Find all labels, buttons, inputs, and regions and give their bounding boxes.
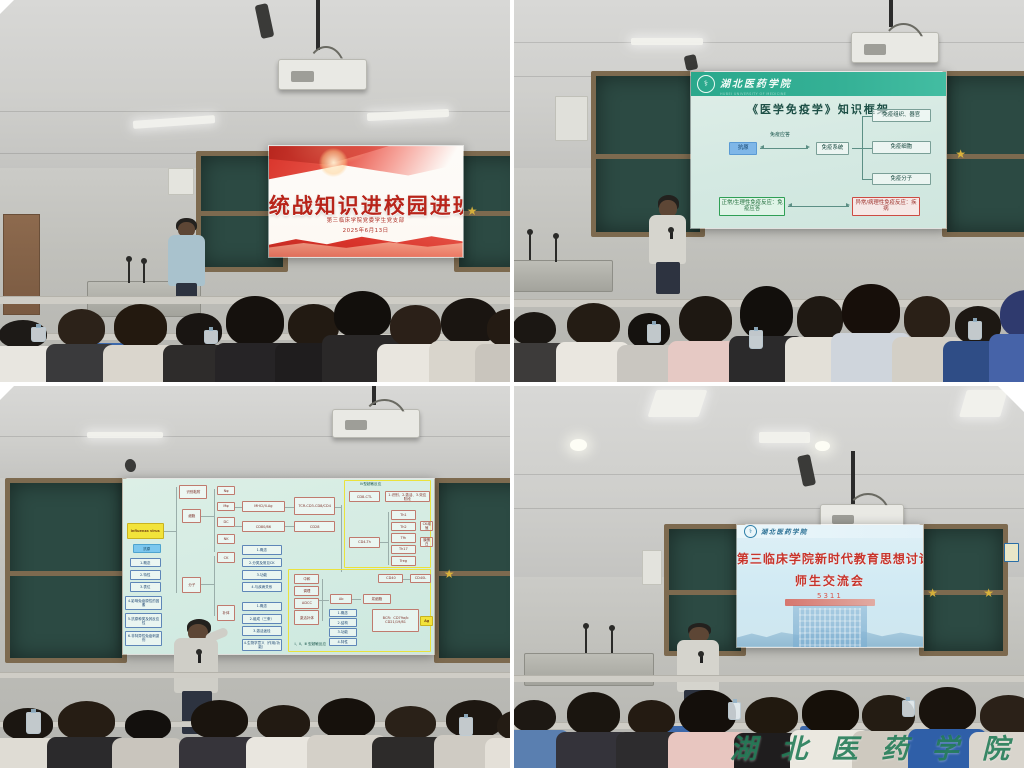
node-ig-item-0: 1.概念 [329, 609, 357, 618]
node-cell-group: 细胞 [182, 509, 201, 523]
university-name: 湖北医药学院 [761, 526, 808, 536]
star-sticker: ★ [927, 588, 938, 599]
node-adhesion: 识别黏附 [179, 485, 207, 499]
label-hypersensitivity-types: Ⅰ、Ⅱ、Ⅲ 型超敏反应 [294, 642, 326, 647]
node-ck-item-2: 3.功能 [242, 570, 282, 580]
node-cd8-ctl: CD8-CTL [349, 491, 380, 502]
node-ab-fn-3: 激活补体 [294, 610, 319, 625]
node-ck-item-1: 2.分类及常见CK [242, 558, 282, 568]
node-cd80-86: CD80/86 [242, 521, 286, 532]
ceiling-light [87, 432, 164, 438]
wall-switch [1004, 543, 1019, 562]
node-th-2: Tfh [391, 533, 416, 543]
node-normal-response: 正常/生理性免疫反应：免疫应答 [719, 197, 785, 216]
node-cell-1: Mφ [217, 502, 236, 512]
sun-glow [319, 148, 348, 177]
node-ck-item-3: 4.与疾病关系 [242, 582, 282, 592]
node-membrane-protein: 膜蛋白 [420, 537, 432, 548]
node-cell-3: NK [217, 534, 236, 544]
water-bottle [968, 321, 982, 340]
photo-panel-top-right: ★ ⚕ 湖北医药学院 HUBEI UNIVERSITY OF MEDICINE … [514, 0, 1024, 382]
water-bottle [749, 330, 763, 349]
node-ig-item-2: 3.功能 [329, 628, 357, 637]
node-tcr-cd3: TCR-CD3-CD8/CD4 [294, 497, 334, 515]
node-cd40: CD40 [378, 574, 403, 584]
node-comp-item-1: 2.组成（三条） [242, 614, 282, 624]
projector-pole [316, 0, 320, 50]
audience [514, 646, 1024, 768]
node-immune-tissue-organ: 免疫组织、器官 [872, 109, 931, 122]
node-ig-item-1: 2.结构 [329, 618, 357, 627]
photo-panel-top-left: ★ 统战知识进校园进班级 第三临床学院党委学生党支部 2025年6月13日 [0, 0, 510, 382]
node-ag: Ag [420, 616, 432, 627]
water-bottle [459, 717, 473, 736]
label-type4-hypersensitivity: IV型超敏反应 [360, 482, 382, 487]
slide-subtitle-org: 第三临床学院党委学生党支部 [327, 218, 405, 224]
node-th-4: Treg [391, 556, 416, 566]
node-left-5: 5.抗原种类及其反应性 [125, 613, 162, 628]
node-ab-fn-2: ADCC [294, 598, 319, 609]
slide-forum-banner: ⚕ 湖北医药学院 第三临床学院新时代教育思想讨论会 师生交流会 5311 [737, 525, 923, 647]
node-stages: 1.识别、2.激活、3.效应阶段 [385, 491, 430, 502]
node-th-3: Th17 [391, 545, 416, 555]
node-ab-fn-1: 调理 [294, 586, 319, 597]
ceiling-light [647, 390, 707, 417]
water-bottle [26, 712, 41, 733]
ceiling-light [631, 38, 702, 45]
projection-screen: ⚕ 湖北医药学院 HUBEI UNIVERSITY OF MEDICINE 《医… [690, 71, 947, 230]
audience [514, 229, 1024, 382]
ceiling-light [759, 432, 810, 443]
projection-screen: 统战知识进校园进班级 第三临床学院党委学生党支部 2025年6月13日 [268, 145, 464, 258]
star-sticker: ★ [955, 149, 966, 160]
node-plasma-cell: 浆细胞 [363, 594, 391, 605]
node-root-antigen: 抗原 [133, 544, 161, 554]
node-cd4-th: CD4-Th [349, 537, 380, 548]
node-ck-proliferation: CK增殖 [420, 521, 432, 532]
node-ck-item-0: 1.概念 [242, 545, 282, 555]
university-banner: ⚕ 湖北医药学院 HUBEI UNIVERSITY OF MEDICINE [691, 72, 946, 96]
photo-collage: ★ 统战知识进校园进班级 第三临床学院党委学生党支部 2025年6月13日 [0, 0, 1024, 768]
node-ck: CK [217, 552, 236, 563]
node-comp-item-0: 1.概念 [242, 602, 282, 612]
node-cd28: CD28 [294, 521, 334, 532]
photo-panel-bottom-right: ★ ★ ⚕ 湖北医药学院 第三临床学院新时代教育思想讨论会 师生交流会 5311 [514, 386, 1024, 768]
university-logo-icon: ⚕ [744, 525, 757, 538]
slide-statement-lecture: 统战知识进校园进班级 第三临床学院党委学生党支部 2025年6月13日 [269, 146, 463, 257]
slide-title-line2: 师生交流会 [737, 572, 923, 589]
node-ab-fn-0: 中和 [294, 574, 319, 585]
university-logo-icon: ⚕ [697, 75, 715, 93]
node-bcr: BCR：CD79a/b CD21/19/81 [372, 609, 419, 632]
university-name: 湖北医药学院 [720, 79, 792, 90]
blackboard-left [5, 478, 127, 664]
water-bottle [31, 327, 46, 342]
water-bottle [902, 700, 915, 718]
node-immune-system: 免疫系统 [816, 142, 849, 155]
node-th-0: Th1 [391, 510, 416, 520]
slide-title-line1: 第三临床学院新时代教育思想讨论会 [737, 550, 923, 567]
star-sticker: ★ [983, 588, 994, 599]
node-molecule-group: 分子 [182, 577, 201, 593]
node-left-3: 3.表位 [130, 582, 161, 592]
node-ab: Ab [330, 594, 352, 605]
slide-subtitle-date: 2025年6月13日 [343, 228, 389, 234]
water-bottle [728, 702, 741, 720]
node-ig-item-3: 4.特性 [329, 638, 357, 647]
node-cd40l: CD40L [410, 574, 432, 584]
node-comp-item-3: 4.生物学意义（作用/功能） [242, 639, 282, 651]
node-immune-cell: 免疫细胞 [872, 141, 931, 154]
photo-panel-bottom-left: ★ Influenza virus 抗原 1.概念 2.特性 3.表位 4.影响… [0, 386, 510, 768]
node-cell-2: DC [217, 517, 236, 527]
projector-pole [889, 0, 893, 27]
slide-immunology-framework: ⚕ 湖北医药学院 HUBEI UNIVERSITY OF MEDICINE 《医… [691, 72, 946, 229]
node-th-1: Th2 [391, 522, 416, 532]
projector-pole [851, 451, 855, 504]
node-immune-molecule: 免疫分子 [872, 173, 931, 186]
label-immune-response: 免疫应答 [770, 131, 790, 138]
node-mhc-ag: MHCI/II-Ag [242, 501, 286, 512]
ceiling-light [959, 390, 1007, 417]
node-cell-0: Nφ [217, 486, 236, 496]
node-root-virus: Influenza virus [127, 523, 164, 539]
water-bottle [647, 324, 661, 343]
node-comp-item-2: 3.激活途径 [242, 626, 282, 636]
node-antigen: 抗原 [729, 142, 757, 155]
wall-panel [555, 96, 588, 142]
water-bottle [204, 330, 218, 344]
node-left-4: 4.影响免疫原性的因素 [125, 596, 162, 611]
star-sticker: ★ [444, 569, 455, 580]
wall-panel [642, 550, 662, 584]
slide-subtitle: 第三临床学院党委学生党支部 2025年6月13日 [269, 216, 463, 237]
university-banner: ⚕ 湖北医药学院 [737, 525, 923, 538]
projection-screen: ⚕ 湖北医药学院 第三临床学院新时代教育思想讨论会 师生交流会 5311 [736, 524, 924, 648]
node-left-6: 6.非特异性免疫刺激剂 [125, 631, 162, 646]
slide-room-number: 5311 [737, 592, 923, 600]
audience [0, 661, 510, 768]
node-abnormal-response: 异常/病理性免疫反应：疾病 [852, 197, 921, 216]
node-left-1: 1.概念 [130, 558, 161, 568]
node-left-2: 2.特性 [130, 570, 161, 580]
star-sticker: ★ [467, 206, 478, 217]
university-name-en: HUBEI UNIVERSITY OF MEDICINE [720, 92, 792, 96]
audience [0, 252, 510, 382]
